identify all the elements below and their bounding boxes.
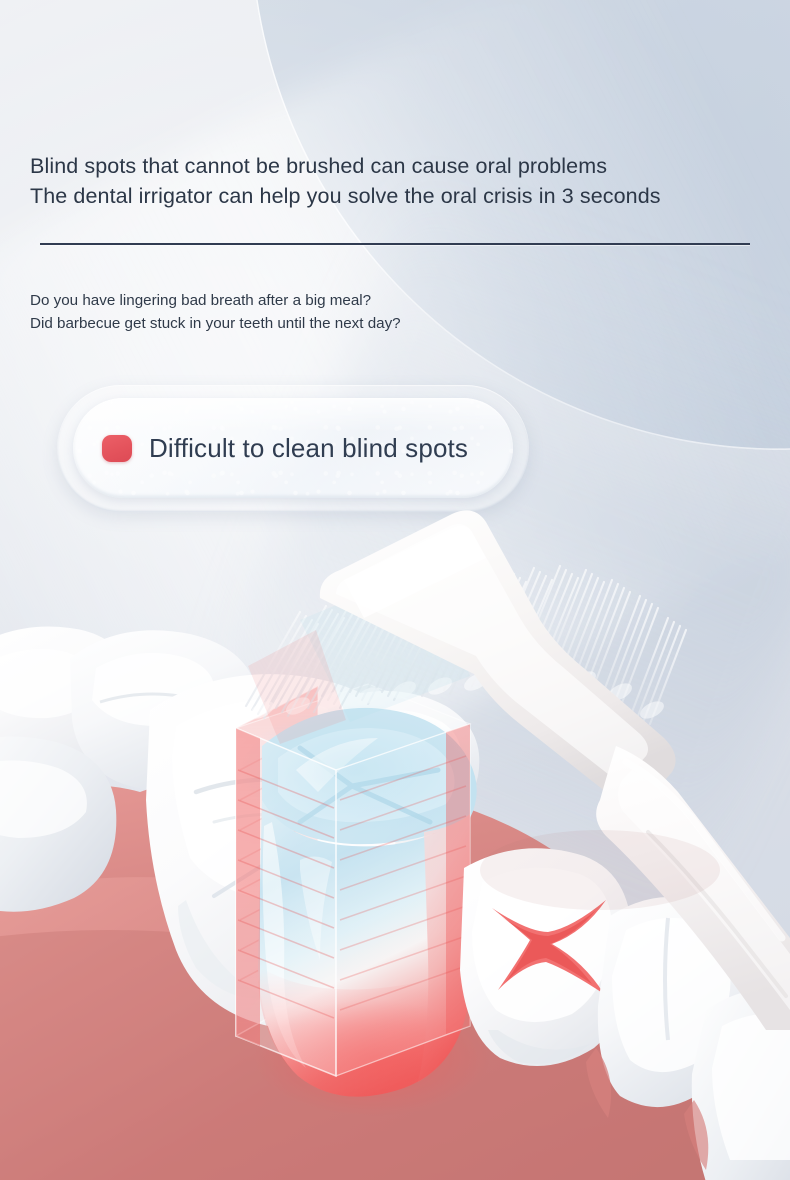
- headline-divider: [40, 243, 750, 245]
- red-square-bullet-icon: [102, 435, 132, 462]
- page-subheadline: Do you have lingering bad breath after a…: [30, 289, 650, 335]
- teeth-illustration: [0, 470, 790, 1180]
- page-headline: Blind spots that cannot be brushed can c…: [30, 152, 750, 211]
- badge-label: Difficult to clean blind spots: [149, 433, 468, 463]
- product-poster: Blind spots that cannot be brushed can c…: [0, 0, 790, 1180]
